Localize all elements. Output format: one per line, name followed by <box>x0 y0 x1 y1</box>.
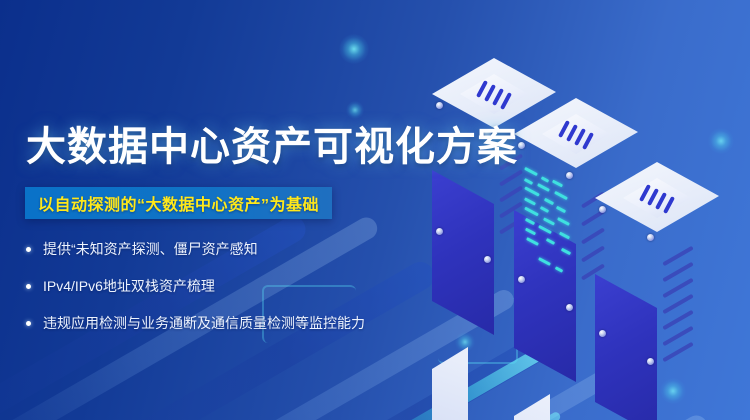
code-dash <box>524 186 540 196</box>
list-item-label: 提供“未知资产探测、僵尸资产感知 <box>43 240 258 258</box>
subtitle-text: 以自动探测的“大数据中心资产”为基础 <box>38 191 319 215</box>
list-item-label: 违规应用检测与业务通断及通信质量检测等监控能力 <box>43 314 365 332</box>
list-item: IPv4/IPv6地址双栈资产梳理 <box>26 277 446 295</box>
code-dash <box>524 167 538 176</box>
bullet-dot-icon <box>26 284 31 289</box>
panel-screw <box>566 304 573 311</box>
panel-screw <box>599 206 606 213</box>
panel-screw <box>647 358 654 365</box>
bullet-dot-icon <box>26 247 31 252</box>
feature-list: 提供“未知资产探测、僵尸资产感知 IPv4/IPv6地址双栈资产梳理 违规应用检… <box>26 240 446 351</box>
code-dash <box>540 206 549 213</box>
page-title: 大数据中心资产可视化方案 <box>26 123 518 171</box>
panel-screw <box>484 256 491 263</box>
bullet-dot-icon <box>26 321 31 326</box>
text-content: 大数据中心资产可视化方案 以自动探测的“大数据中心资产”为基础 提供“未知资产探… <box>0 0 470 420</box>
panel-screw <box>647 234 654 241</box>
code-dash <box>537 183 550 192</box>
list-item: 提供“未知资产探测、僵尸资产感知 <box>26 240 446 258</box>
code-dash <box>554 191 568 200</box>
server-rack-3 <box>595 162 719 420</box>
code-dash <box>524 207 539 217</box>
code-dash <box>556 206 566 213</box>
code-dash <box>552 180 563 188</box>
subtitle-band: 以自动探测的“大数据中心资产”为基础 <box>25 187 332 219</box>
banner-root: 大数据中心资产可视化方案 以自动探测的“大数据中心资产”为基础 提供“未知资产探… <box>0 0 750 420</box>
code-dash <box>524 178 533 185</box>
code-dash <box>524 197 536 205</box>
code-dash <box>543 217 555 225</box>
vent-slit <box>662 342 693 362</box>
panel-screw <box>518 276 525 283</box>
code-dash <box>541 176 549 182</box>
server-racks-illustration <box>432 40 750 400</box>
list-item: 违规应用检测与业务通断及通信质量检测等监控能力 <box>26 314 446 332</box>
panel-screw <box>518 142 525 149</box>
panel-screw <box>599 330 606 337</box>
panel-screw <box>566 172 573 179</box>
code-dash <box>557 217 570 226</box>
rack-front-panel <box>595 274 657 420</box>
code-dash <box>544 198 554 205</box>
rack-side-panel <box>514 382 550 420</box>
list-item-label: IPv4/IPv6地址双栈资产梳理 <box>43 277 215 295</box>
